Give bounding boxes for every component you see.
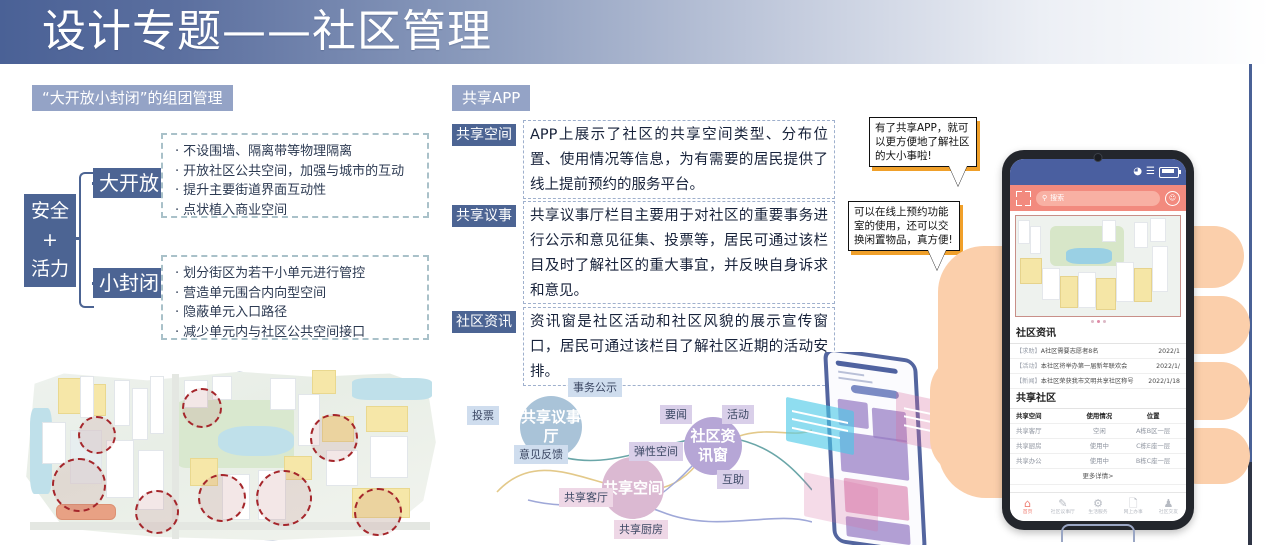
table-header: 共享空间 使用情况 位置	[1010, 409, 1186, 424]
more-details-link[interactable]: 更多详情>	[1010, 469, 1186, 485]
news-section-title: 社区资讯	[1010, 324, 1186, 344]
tab-services[interactable]: ⚙ 生活服务	[1080, 498, 1115, 516]
tab-label: 网上办事	[1124, 510, 1143, 516]
tab-friends[interactable]: ♟ 社区交友	[1151, 498, 1186, 516]
thumb	[930, 355, 1002, 475]
concept-tag: 事务公示	[568, 378, 622, 397]
mindmap-branch-closed: 小封闭	[93, 268, 165, 298]
iso-line	[838, 377, 872, 384]
dot-active[interactable]	[1097, 320, 1100, 323]
desc-tag-shared-space: 共享空间	[452, 124, 516, 146]
concept-tag: 弹性空间	[629, 442, 683, 461]
search-icon: ⚲	[1042, 194, 1047, 202]
cell: 共享客厅	[1016, 427, 1072, 436]
list-item: 营造单元围合内向型空间	[175, 284, 417, 304]
table-row[interactable]: 共享客厅 空闲 A栋B区一层	[1010, 424, 1186, 439]
tab-label: 首页	[1023, 510, 1033, 516]
phone-device: ◕ ☰ ⚲ 搜索 ☺	[1002, 150, 1194, 530]
app-top-bar: ⚲ 搜索 ☺	[1010, 185, 1186, 211]
tab-label: 社区议事厅	[1051, 510, 1075, 516]
news-tag: 【活动】	[1016, 363, 1041, 370]
concept-tag: 共享厨房	[614, 520, 668, 539]
profile-icon[interactable]: ☺	[1165, 191, 1180, 206]
column-header: 使用情况	[1072, 412, 1126, 421]
cell: 使用中	[1072, 457, 1126, 466]
hero-building	[1042, 268, 1060, 300]
home-icon: ⌂	[1024, 498, 1031, 509]
desc-tag-shared-council: 共享议事	[452, 205, 516, 227]
news-tag: 【新闻】	[1016, 378, 1041, 385]
wifi-icon: ◕	[1133, 167, 1142, 177]
tab-council[interactable]: ✎ 社区议事厅	[1045, 498, 1080, 516]
news-tag: 【求助】	[1016, 348, 1041, 355]
list-item: 划分街区为若干小单元进行管控	[175, 264, 417, 284]
service-icon: ⚙	[1093, 498, 1103, 509]
tab-home[interactable]: ⌂ 首页	[1010, 498, 1045, 516]
concept-circle-news: 社区资讯窗	[684, 417, 742, 475]
section-chip-right: 共享APP	[452, 85, 530, 111]
hero-building	[1102, 220, 1116, 242]
hero-building	[1020, 258, 1042, 284]
cell: 共享办公	[1016, 457, 1072, 466]
table-row[interactable]: 共享厨房 使用中 C栋E座一层	[1010, 439, 1186, 454]
cell: C栋E座一层	[1126, 442, 1180, 451]
home-indicator	[1061, 524, 1135, 542]
hero-building	[1078, 272, 1096, 308]
news-date: 2022/1/	[1156, 362, 1180, 371]
concept-tag: 投票	[467, 406, 499, 425]
news-date: 2022/1/18	[1148, 377, 1180, 386]
cell: B栋C座一层	[1126, 457, 1180, 466]
iso-pill	[851, 384, 899, 399]
share-section-title: 共享社区	[1010, 389, 1186, 409]
concept-bubble-diagram: 共享议事厅 共享空间 社区资讯窗 投票 事务公示 意见反馈 弹性空间 要闻 活动…	[462, 372, 812, 544]
mindmap-branch-open: 大开放	[93, 168, 165, 198]
hand-holding-phone: ◕ ☰ ⚲ 搜索 ☺	[930, 150, 1250, 545]
people-icon: ♟	[1163, 498, 1173, 509]
list-item: 减少单元内与社区公共空间接口	[175, 323, 417, 343]
mindmap-list-open: 不设围墙、隔离带等物理隔离 开放社区公共空间，加强与城市的互动 提升主要街道界面…	[161, 133, 429, 218]
desc-text: 共享议事厅栏目主要用于对社区的重要事务进行公示和意见征集、投票等，居民可通过该栏…	[530, 204, 828, 304]
hero-aerial-banner[interactable]	[1015, 215, 1181, 317]
list-item: 开放社区公共空间，加强与城市的互动	[175, 162, 417, 182]
bottom-tab-bar: ⌂ 首页 ✎ 社区议事厅 ⚙ 生活服务 🗋 网上办事	[1010, 492, 1186, 521]
column-header: 共享空间	[1016, 412, 1072, 421]
cell: 空闲	[1072, 427, 1126, 436]
cell: 使用中	[1072, 442, 1126, 451]
mindmap-root-line-3: 活力	[31, 255, 69, 284]
list-item: 点状植入商业空间	[175, 201, 417, 221]
news-row[interactable]: 【求助】A社区需要志愿者8名 2022/1	[1010, 344, 1186, 359]
desc-text: APP上展示了社区的共享空间类型、分布位置、使用情况等信息，为有需要的居民提供了…	[530, 123, 828, 198]
concept-tag: 意见反馈	[514, 445, 568, 464]
desc-box-shared-council: 共享议事厅栏目主要用于对社区的重要事务进行公示和意见征集、投票等，居民可通过该栏…	[523, 201, 835, 304]
mindmap-root-line-2: +	[42, 226, 58, 255]
hero-building	[1096, 278, 1116, 310]
desc-tag-community-news: 社区资讯	[452, 311, 516, 333]
list-item: 不设围墙、隔离带等物理隔离	[175, 142, 417, 162]
carousel-dots[interactable]	[1010, 320, 1186, 323]
mindmap-bracket	[79, 172, 94, 308]
desc-box-shared-space: APP上展示了社区的共享空间类型、分布位置、使用情况等信息，为有需要的居民提供了…	[523, 120, 835, 199]
hero-building	[1134, 222, 1148, 248]
news-title: 本社区荣获我市文明共享社区称号	[1041, 378, 1134, 385]
concept-tag: 要闻	[660, 405, 692, 424]
news-row[interactable]: 【新闻】本社区荣获我市文明共享社区称号 2022/1/18	[1010, 374, 1186, 389]
tab-affairs[interactable]: 🗋 网上办事	[1116, 498, 1151, 516]
concept-tag: 互助	[717, 470, 749, 489]
news-row[interactable]: 【活动】本社区将举办第一届新年联欢会 2022/1/	[1010, 359, 1186, 374]
aerial-boundary	[22, 370, 440, 542]
cell: 共享厨房	[1016, 442, 1072, 451]
list-item: 提升主要街道界面互动性	[175, 181, 417, 201]
tab-label: 生活服务	[1088, 510, 1107, 516]
signal-icon: ☰	[1146, 167, 1155, 177]
hero-building	[1134, 268, 1152, 302]
news-date: 2022/1	[1158, 347, 1180, 356]
hero-building	[1152, 246, 1168, 292]
hero-building	[1060, 276, 1078, 308]
search-placeholder: 搜索	[1050, 193, 1064, 203]
dot[interactable]	[1091, 320, 1094, 323]
header-band: 设计专题——社区管理	[0, 0, 1270, 64]
section-chip-left: “大开放小封闭”的组团管理	[32, 85, 233, 111]
tab-label: 社区交友	[1159, 510, 1178, 516]
table-row[interactable]: 共享办公 使用中 B栋C座一层	[1010, 454, 1186, 469]
search-input[interactable]: ⚲ 搜索	[1036, 191, 1160, 206]
phone-screen: ◕ ☰ ⚲ 搜索 ☺	[1010, 159, 1186, 521]
mindmap-root: 安全 + 活力	[24, 194, 76, 287]
page-title: 设计专题——社区管理	[42, 4, 492, 60]
aerial-masterplan-image	[22, 370, 440, 542]
edit-icon: ✎	[1058, 498, 1067, 509]
mindmap-list-closed: 划分街区为若干小单元进行管控 营造单元围合内向型空间 隐蔽单元入口路径 减少单元…	[161, 255, 429, 340]
news-title: A社区需要志愿者8名	[1041, 348, 1099, 355]
hero-lake	[1066, 248, 1112, 264]
concept-tag: 活动	[722, 405, 754, 424]
scan-icon[interactable]	[1016, 191, 1031, 206]
column-header: 位置	[1126, 412, 1180, 421]
hero-building	[1018, 220, 1030, 244]
list-item: 隐蔽单元入口路径	[175, 303, 417, 323]
hero-building	[1116, 262, 1134, 302]
dot[interactable]	[1103, 320, 1106, 323]
cell: A栋B区一层	[1126, 427, 1180, 436]
battery-icon	[1159, 167, 1179, 178]
slide-root: 设计专题——社区管理 “大开放小封闭”的组团管理 共享APP 安全 + 活力 大…	[0, 0, 1270, 545]
concept-tag: 共享客厅	[559, 488, 613, 507]
status-bar: ◕ ☰	[1010, 159, 1186, 185]
camera-icon	[1094, 153, 1103, 162]
hero-building	[1030, 226, 1041, 254]
iso-line	[838, 371, 864, 377]
news-title: 本社区将举办第一届新年联欢会	[1041, 363, 1128, 370]
mindmap-root-line-1: 安全	[31, 197, 69, 226]
doc-icon: 🗋	[1129, 498, 1138, 509]
hero-building	[1150, 218, 1166, 242]
